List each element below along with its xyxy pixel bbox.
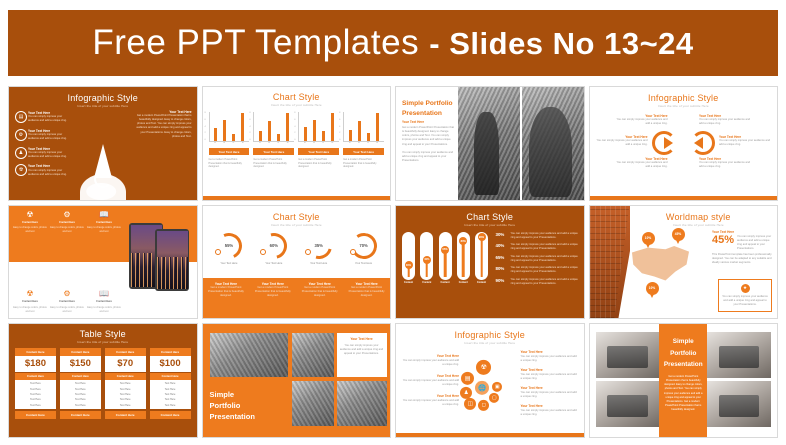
slide-8-subtitle: Insert the title of your subtitle Here: [620, 223, 778, 227]
bar: [259, 131, 262, 141]
bar-chart-card[interactable]: 86420 ABCD Your Text Here Get a modern P…: [253, 112, 294, 169]
slide-thumb-3[interactable]: Simple Portfolio Presentation Your Text …: [395, 86, 585, 201]
portfolio-photo: [337, 381, 387, 426]
left-text-block[interactable]: Your Text Here You can simply impress yo…: [401, 354, 459, 366]
arrow-right-icon: [691, 131, 715, 155]
right-text-block[interactable]: Your Text Here You can simply impress yo…: [521, 404, 579, 416]
legend-row[interactable]: 40% You can simply impress your audience…: [496, 243, 580, 251]
portfolio-photo: [292, 381, 334, 426]
stat-body-secondary: This PowerPoint template has been profes…: [712, 253, 772, 265]
thermometer-caption: Content: [439, 281, 452, 284]
icon-cell-title: Content Here: [87, 300, 121, 304]
icon-cells-bottom: ☢ Content Here Easy to change colors, ph…: [13, 290, 121, 313]
icon-cell-title: Content Here: [13, 221, 47, 225]
column-rows: Text Here Text Here Text Here Text Here …: [15, 380, 56, 410]
slide-2-title: Chart Style: [203, 92, 391, 102]
desk-photo: [596, 332, 660, 378]
chart-card-header: Your Text Here: [209, 148, 250, 155]
desk-photo: [707, 381, 771, 427]
column-button[interactable]: Content Here: [15, 411, 56, 419]
callout-body: You can simply impress your audience and…: [722, 295, 768, 307]
right-text-block[interactable]: Your Text Here You can simply impress yo…: [521, 386, 579, 398]
gear-icon: ⚙: [50, 290, 84, 298]
footer-text-block[interactable]: Your Text Here Get a modern PowerPoint P…: [249, 278, 296, 319]
title-line-1: Simple: [210, 390, 255, 401]
slide-5-canvas: ☢ Content Here Easy to change colors, ph…: [9, 206, 197, 319]
title-line-1: Simple Portfolio: [402, 99, 453, 109]
footer-body: Get a modern PowerPoint Presentation tha…: [346, 286, 387, 298]
icon-cell-body: Easy to change colors, photos and text: [87, 306, 121, 314]
chart-card-header: Your Text Here: [343, 148, 384, 155]
icon-cluster: ▤ ☢ ♟ 🌐 ▣ ▢ ◫ ◻: [459, 359, 505, 405]
desk-photo: [707, 332, 771, 378]
phone-mockup: [155, 229, 189, 291]
slide-thumb-9[interactable]: Table Style Insert the title of your sub…: [8, 323, 198, 438]
text-card[interactable]: Your Text Here You can simply impress yo…: [337, 333, 387, 377]
info-block[interactable]: Your Text Here You can simply impress yo…: [699, 114, 751, 126]
bar-chart-group: 86420 ABCD Your Text Here Get a modern P…: [209, 112, 385, 169]
banner-title-bold: - Slides No 13~24: [429, 26, 693, 61]
legend-pct: 80%: [496, 266, 508, 271]
gauge-caption: Your Text Here: [251, 262, 296, 265]
stat-body: You can simply impress your audience and…: [737, 235, 772, 251]
icon-cell[interactable]: ☢ Content Here Easy to change colors, ph…: [13, 290, 47, 313]
slide-7-title: Chart Style: [396, 212, 584, 222]
gauge-endpoint-icon: [215, 249, 221, 255]
slide-10-canvas: Your Text Here You can simply impress yo…: [203, 324, 391, 437]
gauge-endpoint-icon: [305, 249, 311, 255]
chart-card-body: Get a modern PowerPoint Presentation tha…: [343, 158, 384, 170]
briefcase-icon[interactable]: ▣: [492, 381, 502, 391]
legend-body: You can simply impress your audience and…: [511, 232, 580, 240]
donut-gauge[interactable]: 70% Your Text Here: [341, 233, 386, 265]
table-row: Text Here: [105, 403, 146, 408]
pricing-table: Content Here $180 Content Here Text Here…: [15, 348, 191, 419]
icon-cell-title: Content Here: [50, 221, 84, 225]
monitor-icon[interactable]: ▢: [489, 392, 499, 402]
stat-value: 45%: [712, 235, 734, 246]
usa-map-shape: [630, 244, 692, 284]
gauge-value: 60%: [261, 233, 287, 259]
footer-body: Get a modern PowerPoint Presentation tha…: [206, 286, 247, 298]
book-icon: 📖: [87, 290, 121, 298]
accent-bar: [590, 196, 778, 200]
bar-chart: 86420: [209, 112, 250, 142]
column-price: $70: [105, 356, 146, 372]
donut-gauge[interactable]: 35% Your Text Here: [296, 233, 341, 265]
map-pin[interactable]: 10%: [642, 232, 655, 245]
legend-row[interactable]: 80% You can simply impress your audience…: [496, 266, 580, 274]
callout-box[interactable]: ★ You can simply impress your audience a…: [718, 279, 772, 313]
slide-12-body: Get a modern PowerPoint Presentation tha…: [659, 375, 707, 412]
gauge-value: 55%: [216, 233, 242, 259]
right-text-block[interactable]: Your Text Here You can simply impress yo…: [521, 350, 579, 362]
gauge-caption: Your Text Here: [341, 262, 386, 265]
slide-6-subtitle: Insert the title of your subtitle Here: [203, 223, 391, 227]
header-banner: Free PPT Templates - Slides No 13~24: [8, 10, 778, 76]
legend-pct: 65%: [496, 255, 508, 260]
info-block[interactable]: Your Text Here You can simply impress yo…: [616, 114, 668, 126]
info-block[interactable]: Your Text Here You can simply impress yo…: [596, 135, 648, 147]
slide-1-right-text: Your Text Here Get a modern PowerPoint P…: [136, 110, 192, 139]
donut-gauge[interactable]: 60% Your Text Here: [251, 233, 296, 265]
bar: [322, 131, 325, 141]
column-rows: Text Here Text Here Text Here Text Here …: [60, 380, 101, 410]
icon-cell-title: Content Here: [87, 221, 121, 225]
bar: [358, 121, 361, 141]
block-body: You can simply impress your audience and…: [521, 391, 579, 399]
portfolio-photo: [458, 87, 520, 200]
orange-title-column: Simple Portfolio Presentation Get a mode…: [659, 324, 707, 437]
info-block[interactable]: Your Text Here You can simply impress yo…: [616, 157, 668, 169]
column-header: Content Here: [60, 348, 101, 356]
slide-6-title: Chart Style: [203, 212, 391, 222]
slide-11-title: Infographic Style: [396, 330, 584, 340]
thermometer-caption: Content: [420, 281, 433, 284]
block-body: You can simply impress your audience and…: [521, 373, 579, 381]
slide-catalog-page: Free PPT Templates - Slides No 13~24 Inf…: [0, 0, 786, 445]
card-title: Your Text Here: [340, 337, 384, 341]
title-line-1: Simple: [664, 336, 703, 347]
info-block-body: You can simply impress your audience and…: [616, 161, 668, 169]
slide-thumb-4[interactable]: Infographic Style Insert the title of yo…: [589, 86, 779, 201]
slide-1-subtitle: Insert the title of your subtitle Here: [9, 104, 197, 108]
left-text-block[interactable]: Your Text Here You can simply impress yo…: [401, 374, 459, 386]
slide-4-title: Infographic Style: [590, 93, 778, 103]
list-item-body: You can simply impress your audience and…: [28, 151, 71, 159]
list-item-body: You can simply impress your audience and…: [28, 169, 71, 177]
footer-body: Get a modern PowerPoint Presentation tha…: [252, 286, 293, 298]
donut-ring: 55%: [216, 233, 242, 259]
gauge-value: 35%: [306, 233, 332, 259]
legend-pct: 40%: [496, 243, 508, 248]
accent-bar: [203, 196, 391, 200]
slide-thumb-8[interactable]: Worldmap style Insert the title of your …: [589, 205, 779, 320]
rocket-illustration: [77, 140, 129, 200]
thermometer-value: 65%: [441, 246, 449, 254]
chart-card-body: Get a modern PowerPoint Presentation tha…: [209, 158, 250, 170]
legend-body: You can simply impress your audience and…: [511, 243, 580, 251]
gauge-value: 70%: [351, 233, 377, 259]
info-block[interactable]: Your Text Here You can simply impress yo…: [719, 135, 771, 147]
slide-4-canvas: Infographic Style Insert the title of yo…: [590, 87, 778, 200]
bar: [304, 127, 307, 141]
icon-cell-body: Easy to change colors, photos and text: [50, 226, 84, 234]
footer-text-block[interactable]: Your Text Here Get a modern PowerPoint P…: [296, 278, 343, 319]
bar: [214, 128, 217, 141]
legend-body: You can simply impress your audience and…: [511, 266, 580, 274]
gauge-caption: Your Text Here: [207, 262, 252, 265]
chart-card-header: Your Text Here: [253, 148, 294, 155]
slide-thumb-2[interactable]: Chart Style Insert the title of your sub…: [202, 86, 392, 201]
block-body: You can simply impress your audience and…: [401, 359, 459, 367]
legend-rows: 30% You can simply impress your audience…: [496, 232, 580, 289]
donut-gauge[interactable]: 55% Your Text Here: [207, 233, 252, 265]
bar: [331, 113, 334, 141]
portfolio-photo: [210, 333, 288, 377]
footer-text-block[interactable]: Your Text Here Get a modern PowerPoint P…: [343, 278, 390, 319]
slide-8-canvas: Worldmap style Insert the title of your …: [590, 206, 778, 319]
right-text-body: Get a modern PowerPoint Presentation tha…: [136, 114, 192, 138]
title-line-2: Portfolio: [664, 348, 703, 359]
donut-gauge-group: 55% Your Text Here 60% Your Text Here: [207, 233, 387, 265]
pricing-column[interactable]: Content Here $180 Content Here Text Here…: [15, 348, 56, 419]
pricing-column[interactable]: Content Here $70 Content Here Text Here …: [105, 348, 146, 419]
icon-cell-body: Easy to change colors, photos and text: [13, 306, 47, 314]
right-text-block[interactable]: Your Text Here You can simply impress yo…: [521, 368, 579, 380]
slide-11-subtitle: Insert the title of your subtitle Here: [396, 341, 584, 345]
y-axis-ticks: 86420: [339, 112, 340, 141]
map-pin[interactable]: 45%: [672, 228, 685, 241]
slide-thumb-7[interactable]: Chart Style Insert the title of your sub…: [395, 205, 585, 320]
icon-cells-top: ☢ Content Here Easy to change colors, ph…: [13, 211, 121, 234]
legend-body: You can simply impress your audience and…: [511, 278, 580, 286]
column-rows: Text Here Text Here Text Here Text Here …: [150, 380, 191, 410]
slide-thumb-12[interactable]: Simple Portfolio Presentation Get a mode…: [589, 323, 779, 438]
legend-pct: 90%: [496, 278, 508, 283]
bar: [367, 133, 370, 141]
slide-thumb-6[interactable]: Chart Style Insert the title of your sub…: [202, 205, 392, 320]
slide-3-body-1: Get a modern PowerPoint Presentation tha…: [402, 126, 454, 146]
bar: [286, 113, 289, 141]
slide-12-canvas: Simple Portfolio Presentation Get a mode…: [590, 324, 778, 437]
slide-grid: Infographic Style Insert the title of yo…: [8, 86, 778, 438]
slide-7-subtitle: Insert the title of your subtitle Here: [396, 223, 584, 227]
title-line-3: Presentation: [664, 359, 703, 370]
info-block-body: You can simply impress your audience and…: [699, 118, 751, 126]
banner-title-light: Free PPT Templates: [92, 23, 419, 62]
bar-chart: 86420: [253, 112, 294, 142]
info-block-body: You can simply impress your audience and…: [596, 139, 648, 147]
thermometer-bar[interactable]: 30%: [402, 232, 415, 280]
legend-row[interactable]: 90% You can simply impress your audience…: [496, 278, 580, 286]
slide-1-left-list: ▤ Your Text Here You can simply impress …: [15, 111, 71, 182]
bar: [223, 120, 226, 141]
icon-cell-body: Easy to change colors, photos and text: [13, 226, 47, 234]
gauge-endpoint-icon: [350, 249, 356, 255]
slide-9-subtitle: Insert the title of your subtitle Here: [9, 340, 197, 344]
list-item[interactable]: ⚙ Your Text Here You can simply impress …: [15, 129, 71, 141]
lightbulb-icon: ★: [741, 284, 750, 293]
slide-1-title: Infographic Style: [9, 93, 197, 103]
y-axis-ticks: 86420: [205, 112, 206, 141]
slide-thumb-10[interactable]: Your Text Here You can simply impress yo…: [202, 323, 392, 438]
rocket-body-icon: [94, 144, 112, 178]
bar-chart-card[interactable]: 86420 ABCD Your Text Here Get a modern P…: [343, 112, 384, 169]
x-axis-labels: ABCD: [343, 142, 384, 144]
donut-ring: 35%: [306, 233, 332, 259]
thermometer-bar[interactable]: 40%: [420, 232, 433, 280]
icon-cell[interactable]: ⚙ Content Here Easy to change colors, ph…: [50, 211, 84, 234]
bar-chart-card[interactable]: 86420 ABCD Your Text Here Get a modern P…: [209, 112, 250, 169]
legend-row[interactable]: 30% You can simply impress your audience…: [496, 232, 580, 240]
chart-card-header: Your Text Here: [298, 148, 339, 155]
x-axis-labels: ABCD: [253, 142, 294, 144]
bar-chart: 86420: [298, 112, 339, 142]
slide-6-canvas: Chart Style Insert the title of your sub…: [203, 206, 391, 319]
bar: [277, 134, 280, 141]
document-icon[interactable]: ◫: [464, 397, 476, 409]
radiation-icon: ☢: [13, 290, 47, 298]
pricing-column[interactable]: Content Here $150 Content Here Text Here…: [60, 348, 101, 419]
column-button[interactable]: Content Here: [150, 411, 191, 419]
banner-title: Free PPT Templates - Slides No 13~24: [92, 23, 693, 63]
slide-7-canvas: Chart Style Insert the title of your sub…: [396, 206, 584, 319]
left-text-block[interactable]: Your Text Here You can simply impress yo…: [401, 394, 459, 406]
column-header: Content Here: [150, 348, 191, 356]
slide-3-canvas: Simple Portfolio Presentation Your Text …: [396, 87, 584, 200]
y-axis-ticks: 86420: [294, 112, 295, 141]
portfolio-photo: [522, 87, 584, 200]
thermometer-value: 30%: [405, 261, 413, 269]
card-body: You can simply impress your audience and…: [340, 344, 384, 356]
pricing-column[interactable]: Content Here $100 Content Here Text Here…: [150, 348, 191, 419]
column-header: Content Here: [105, 348, 146, 356]
title-line-2: Presentation: [402, 109, 453, 119]
arrow-left-icon: [652, 131, 676, 155]
footer-text-block[interactable]: Your Text Here Get a modern PowerPoint P…: [203, 278, 250, 319]
radiation-icon[interactable]: ☢: [476, 359, 491, 374]
slide-10-title: Simple Portfolio Presentation: [210, 390, 255, 423]
icon-cell[interactable]: 📖 Content Here Easy to change colors, ph…: [87, 290, 121, 313]
icon-cell-title: Content Here: [13, 300, 47, 304]
bar-chart-card[interactable]: 86420 ABCD Your Text Here Get a modern P…: [298, 112, 339, 169]
phone-screen: [157, 231, 188, 289]
title-line-3: Presentation: [210, 412, 255, 423]
bar: [349, 130, 352, 141]
desk-photo: [596, 381, 660, 427]
block-body: You can simply impress your audience and…: [521, 355, 579, 363]
thermometer-caption: Content: [457, 281, 470, 284]
accent-bar: [396, 433, 584, 437]
block-body: You can simply impress your audience and…: [401, 379, 459, 387]
donut-ring: 60%: [261, 233, 287, 259]
slide-2-canvas: Chart Style Insert the title of your sub…: [203, 87, 391, 200]
list-item[interactable]: ☢ Your Text Here You can simply impress …: [15, 164, 71, 176]
block-body: You can simply impress your audience and…: [401, 399, 459, 407]
book-icon: ▤: [15, 111, 27, 123]
thermometer-value: 90%: [478, 233, 486, 241]
gear-icon: ⚙: [50, 211, 84, 219]
thermometer-captions: Content Content Content Content Content: [402, 281, 488, 284]
slide-8-title: Worldmap style: [620, 212, 778, 222]
chart-card-body: Get a modern PowerPoint Presentation tha…: [253, 158, 294, 170]
column-button[interactable]: Content Here: [105, 411, 146, 419]
orange-footer-panel: Your Text Here Get a modern PowerPoint P…: [203, 278, 391, 319]
info-block-body: You can simply impress your audience and…: [719, 139, 771, 147]
slide-12-title: Simple Portfolio Presentation: [664, 336, 703, 370]
person-icon: ♟: [15, 147, 27, 159]
thermometer-value: 40%: [423, 256, 431, 264]
column-price: $100: [150, 356, 191, 372]
thermometer-bar[interactable]: 65%: [439, 232, 452, 280]
radiation-icon: ☢: [13, 211, 47, 219]
bar: [268, 121, 271, 141]
camera-icon[interactable]: ◻: [478, 399, 489, 410]
info-block-body: You can simply impress your audience and…: [699, 161, 751, 169]
thermometer-group: 30% 40% 65% 80%: [402, 232, 488, 280]
donut-ring: 70%: [351, 233, 377, 259]
map-pin[interactable]: 10%: [646, 282, 659, 295]
bar: [232, 134, 235, 141]
thermometer-value: 80%: [459, 237, 467, 245]
legend-row[interactable]: 65% You can simply impress your audience…: [496, 255, 580, 263]
thermometer-bar[interactable]: 80%: [457, 232, 470, 280]
portfolio-photo: [292, 333, 334, 377]
book-icon[interactable]: ▤: [461, 371, 474, 384]
info-block[interactable]: Your Text Here You can simply impress yo…: [699, 157, 751, 169]
icon-cell[interactable]: ☢ Content Here Easy to change colors, ph…: [13, 211, 47, 234]
block-body: You can simply impress your audience and…: [521, 409, 579, 417]
gauge-endpoint-icon: [260, 249, 266, 255]
globe-icon[interactable]: 🌐: [475, 380, 489, 394]
slide-9-canvas: Table Style Insert the title of your sub…: [9, 324, 197, 437]
y-axis-ticks: 86420: [249, 112, 250, 141]
icon-cell-body: Easy to change colors, photos and text: [50, 306, 84, 314]
bar: [313, 120, 316, 141]
thermometer-caption: Content: [475, 281, 488, 284]
gear-icon: ⚙: [15, 129, 27, 141]
footer-body: Get a modern PowerPoint Presentation tha…: [299, 286, 340, 298]
icon-cell-body: Easy to change colors, photos and text: [87, 226, 121, 234]
slide-9-title: Table Style: [9, 329, 197, 339]
column-price: $150: [60, 356, 101, 372]
list-item[interactable]: ♟ Your Text Here You can simply impress …: [15, 147, 71, 159]
slide-thumb-5[interactable]: ☢ Content Here Easy to change colors, ph…: [8, 205, 198, 320]
gauge-caption: Your Text Here: [296, 262, 341, 265]
icon-cell[interactable]: 📖 Content Here Easy to change colors, ph…: [87, 211, 121, 234]
list-item-body: You can simply impress your audience and…: [28, 115, 71, 123]
slide-2-subtitle: Insert the title of your subtitle Here: [203, 103, 391, 107]
table-row: Text Here: [150, 403, 191, 408]
radiation-icon: ☢: [15, 164, 27, 176]
list-item[interactable]: ▤ Your Text Here You can simply impress …: [15, 111, 71, 123]
table-row: Text Here: [15, 403, 56, 408]
slide-3-title: Simple Portfolio Presentation: [402, 99, 453, 119]
icon-cell-title: Content Here: [50, 300, 84, 304]
thermometer-bar[interactable]: 90%: [475, 232, 488, 280]
column-button[interactable]: Content Here: [60, 411, 101, 419]
chart-card-body: Get a modern PowerPoint Presentation tha…: [298, 158, 339, 170]
slide-1-canvas: Infographic Style Insert the title of yo…: [9, 87, 197, 200]
thermometer-caption: Content: [402, 281, 415, 284]
slide-3-body-2: You can simply impress your audience and…: [402, 151, 454, 163]
book-icon: 📖: [87, 211, 121, 219]
column-rows: Text Here Text Here Text Here Text Here …: [105, 380, 146, 410]
column-header: Content Here: [15, 348, 56, 356]
bar: [376, 113, 379, 141]
slide-11-canvas: Infographic Style Insert the title of yo…: [396, 324, 584, 437]
bar: [241, 113, 244, 141]
x-axis-labels: ABCD: [298, 142, 339, 144]
slide-3-text-title: Your Text Here: [402, 120, 454, 124]
table-row: Text Here: [60, 403, 101, 408]
x-axis-labels: ABCD: [209, 142, 250, 144]
slide-thumb-11[interactable]: Infographic Style Insert the title of yo…: [395, 323, 585, 438]
icon-cell[interactable]: ⚙ Content Here Easy to change colors, ph…: [50, 290, 84, 313]
info-block-body: You can simply impress your audience and…: [616, 118, 668, 126]
legend-body: You can simply impress your audience and…: [511, 255, 580, 263]
list-item-body: You can simply impress your audience and…: [28, 133, 71, 141]
slide-4-subtitle: Insert the title of your subtitle Here: [590, 104, 778, 108]
slide-thumb-1[interactable]: Infographic Style Insert the title of yo…: [8, 86, 198, 201]
legend-pct: 30%: [496, 232, 508, 237]
column-price: $180: [15, 356, 56, 372]
title-line-2: Portfolio: [210, 401, 255, 412]
bar-chart: 86420: [343, 112, 384, 142]
